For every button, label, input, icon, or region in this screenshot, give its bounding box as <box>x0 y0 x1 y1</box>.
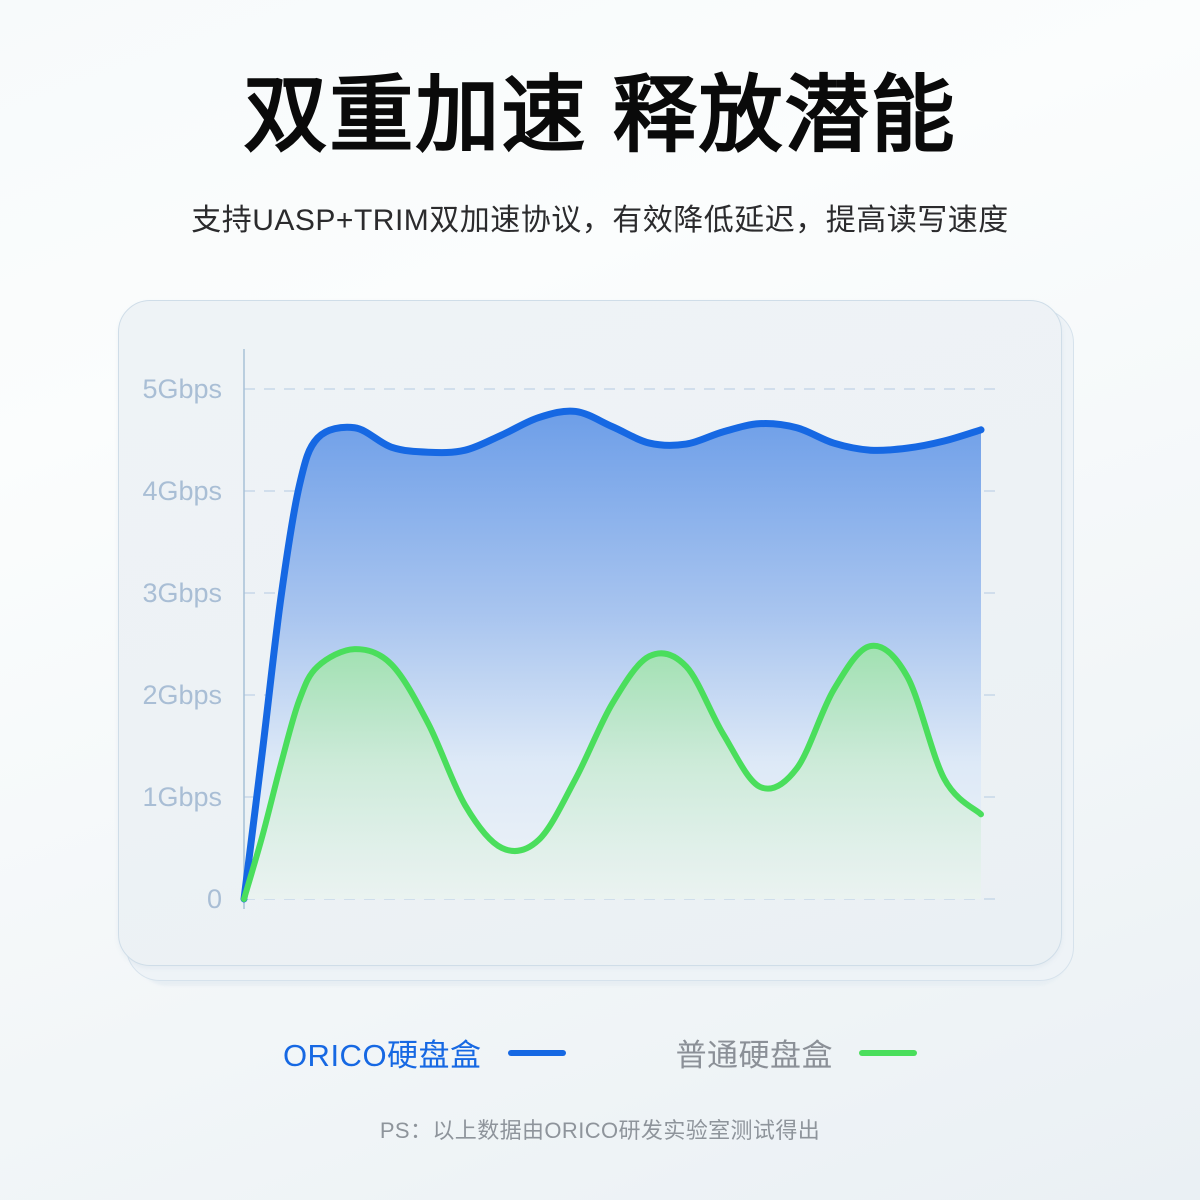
y-axis-tick-label: 2Gbps <box>142 680 222 710</box>
y-axis-tick-label: 1Gbps <box>142 782 222 812</box>
speed-comparison-area-chart: 01Gbps2Gbps3Gbps4Gbps5Gbps <box>119 301 1062 966</box>
chart-card: 01Gbps2Gbps3Gbps4Gbps5Gbps <box>118 300 1062 966</box>
y-axis-tick-label: 0 <box>207 884 222 914</box>
chart-legend: ORICO硬盘盒 普通硬盘盒 <box>0 1030 1200 1075</box>
legend-swatch-orico <box>508 1050 566 1056</box>
page-title: 双重加速 释放潜能 <box>0 66 1200 165</box>
footnote: PS：以上数据由ORICO研发实验室测试得出 <box>0 1113 1200 1145</box>
y-axis-tick-label: 5Gbps <box>142 374 222 404</box>
legend-label-orico: ORICO硬盘盒 <box>283 1030 482 1075</box>
y-axis-tick-label: 3Gbps <box>142 578 222 608</box>
legend-label-ordinary: 普通硬盘盒 <box>676 1030 834 1075</box>
header: 双重加速 释放潜能 支持UASP+TRIM双加速协议，有效降低延迟，提高读写速度 <box>0 0 1200 239</box>
y-axis-tick-label: 4Gbps <box>142 476 222 506</box>
legend-item-ordinary[interactable]: 普通硬盘盒 <box>676 1030 918 1075</box>
page-subtitle: 支持UASP+TRIM双加速协议，有效降低延迟，提高读写速度 <box>0 195 1200 239</box>
legend-item-orico[interactable]: ORICO硬盘盒 <box>283 1030 566 1075</box>
chart-card-wrapper: 01Gbps2Gbps3Gbps4Gbps5Gbps <box>118 300 1082 986</box>
legend-swatch-ordinary <box>859 1050 917 1056</box>
